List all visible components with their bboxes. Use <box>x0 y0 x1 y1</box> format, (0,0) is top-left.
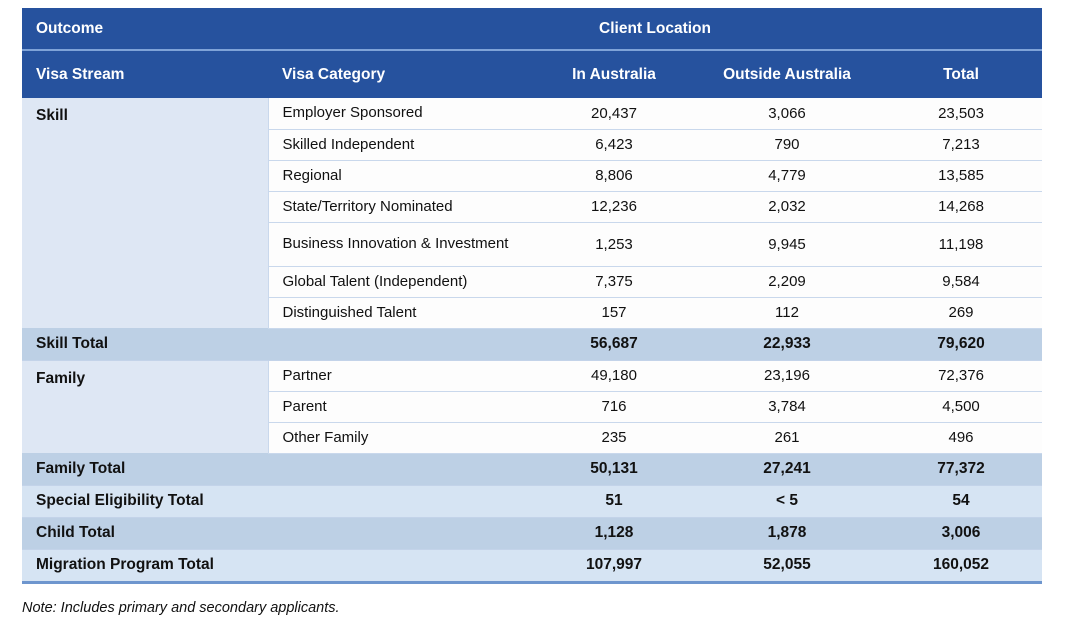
table-body: Skill Employer Sponsored 20,437 3,066 23… <box>22 98 1042 582</box>
header-visa-category: Visa Category <box>268 50 534 98</box>
in-australia-cell: 49,180 <box>534 360 694 391</box>
outside-australia-cell: 27,241 <box>694 453 880 485</box>
table-note: Note: Includes primary and secondary app… <box>22 600 340 616</box>
category-cell: Other Family <box>268 422 534 453</box>
total-cell: 269 <box>880 297 1042 328</box>
category-cell: Skilled Independent <box>268 129 534 160</box>
in-australia-cell: 107,997 <box>534 549 694 582</box>
special-eligibility-total-row: Special Eligibility Total 51 < 5 54 <box>22 485 1042 517</box>
outside-australia-cell: 2,209 <box>694 266 880 297</box>
header-row-top: Outcome Client Location <box>22 8 1042 50</box>
total-cell: 9,584 <box>880 266 1042 297</box>
total-cell: 72,376 <box>880 360 1042 391</box>
in-australia-cell: 50,131 <box>534 453 694 485</box>
outside-australia-cell: 3,066 <box>694 98 880 129</box>
in-australia-cell: 1,128 <box>534 517 694 549</box>
total-cell: 23,503 <box>880 98 1042 129</box>
total-cell: 13,585 <box>880 160 1042 191</box>
total-cell: 160,052 <box>880 549 1042 582</box>
outside-australia-cell: 52,055 <box>694 549 880 582</box>
outside-australia-cell: 2,032 <box>694 191 880 222</box>
category-cell: Partner <box>268 360 534 391</box>
header-outcome: Outcome <box>22 8 268 50</box>
header-row-sub: Visa Stream Visa Category In Australia O… <box>22 50 1042 98</box>
total-cell: 11,198 <box>880 222 1042 266</box>
total-cell: 77,372 <box>880 453 1042 485</box>
table-header: Outcome Client Location Visa Stream Visa… <box>22 8 1042 98</box>
total-row-label: Migration Program Total <box>22 549 534 582</box>
category-cell: Distinguished Talent <box>268 297 534 328</box>
table-row: Skill Employer Sponsored 20,437 3,066 23… <box>22 98 1042 129</box>
migration-program-table: Outcome Client Location Visa Stream Visa… <box>22 8 1042 584</box>
header-outside-australia: Outside Australia <box>694 50 880 98</box>
total-row-label: Family Total <box>22 453 534 485</box>
category-cell: Regional <box>268 160 534 191</box>
outside-australia-cell: 23,196 <box>694 360 880 391</box>
category-cell: Parent <box>268 391 534 422</box>
in-australia-cell: 235 <box>534 422 694 453</box>
outside-australia-cell: 1,878 <box>694 517 880 549</box>
migration-program-table-container: Outcome Client Location Visa Stream Visa… <box>22 8 1042 584</box>
header-in-australia: In Australia <box>534 50 694 98</box>
family-total-row: Family Total 50,131 27,241 77,372 <box>22 453 1042 485</box>
in-australia-cell: 20,437 <box>534 98 694 129</box>
total-cell: 7,213 <box>880 129 1042 160</box>
outside-australia-cell: 261 <box>694 422 880 453</box>
category-cell: Business Innovation & Investment <box>268 222 534 266</box>
category-cell: State/Territory Nominated <box>268 191 534 222</box>
outside-australia-cell: 22,933 <box>694 328 880 360</box>
total-cell: 3,006 <box>880 517 1042 549</box>
total-cell: 79,620 <box>880 328 1042 360</box>
outside-australia-cell: 112 <box>694 297 880 328</box>
skill-total-row: Skill Total 56,687 22,933 79,620 <box>22 328 1042 360</box>
in-australia-cell: 7,375 <box>534 266 694 297</box>
in-australia-cell: 1,253 <box>534 222 694 266</box>
table-page: Outcome Client Location Visa Stream Visa… <box>0 0 1080 631</box>
outside-australia-cell: 790 <box>694 129 880 160</box>
total-row-label: Special Eligibility Total <box>22 485 534 517</box>
stream-label-family: Family <box>22 360 268 453</box>
table-row: Family Partner 49,180 23,196 72,376 <box>22 360 1042 391</box>
in-australia-cell: 56,687 <box>534 328 694 360</box>
total-cell: 4,500 <box>880 391 1042 422</box>
header-total: Total <box>880 50 1042 98</box>
in-australia-cell: 12,236 <box>534 191 694 222</box>
migration-program-total-row: Migration Program Total 107,997 52,055 1… <box>22 549 1042 582</box>
header-visa-stream: Visa Stream <box>22 50 268 98</box>
in-australia-cell: 6,423 <box>534 129 694 160</box>
total-cell: 14,268 <box>880 191 1042 222</box>
outside-australia-cell: 9,945 <box>694 222 880 266</box>
in-australia-cell: 716 <box>534 391 694 422</box>
outside-australia-cell: 4,779 <box>694 160 880 191</box>
total-cell: 54 <box>880 485 1042 517</box>
category-cell: Employer Sponsored <box>268 98 534 129</box>
in-australia-cell: 157 <box>534 297 694 328</box>
total-row-label: Skill Total <box>22 328 534 360</box>
category-cell: Global Talent (Independent) <box>268 266 534 297</box>
total-row-label: Child Total <box>22 517 534 549</box>
in-australia-cell: 8,806 <box>534 160 694 191</box>
total-cell: 496 <box>880 422 1042 453</box>
outside-australia-cell: 3,784 <box>694 391 880 422</box>
header-client-location: Client Location <box>268 8 1042 50</box>
outside-australia-cell: < 5 <box>694 485 880 517</box>
stream-label-skill: Skill <box>22 98 268 328</box>
child-total-row: Child Total 1,128 1,878 3,006 <box>22 517 1042 549</box>
in-australia-cell: 51 <box>534 485 694 517</box>
